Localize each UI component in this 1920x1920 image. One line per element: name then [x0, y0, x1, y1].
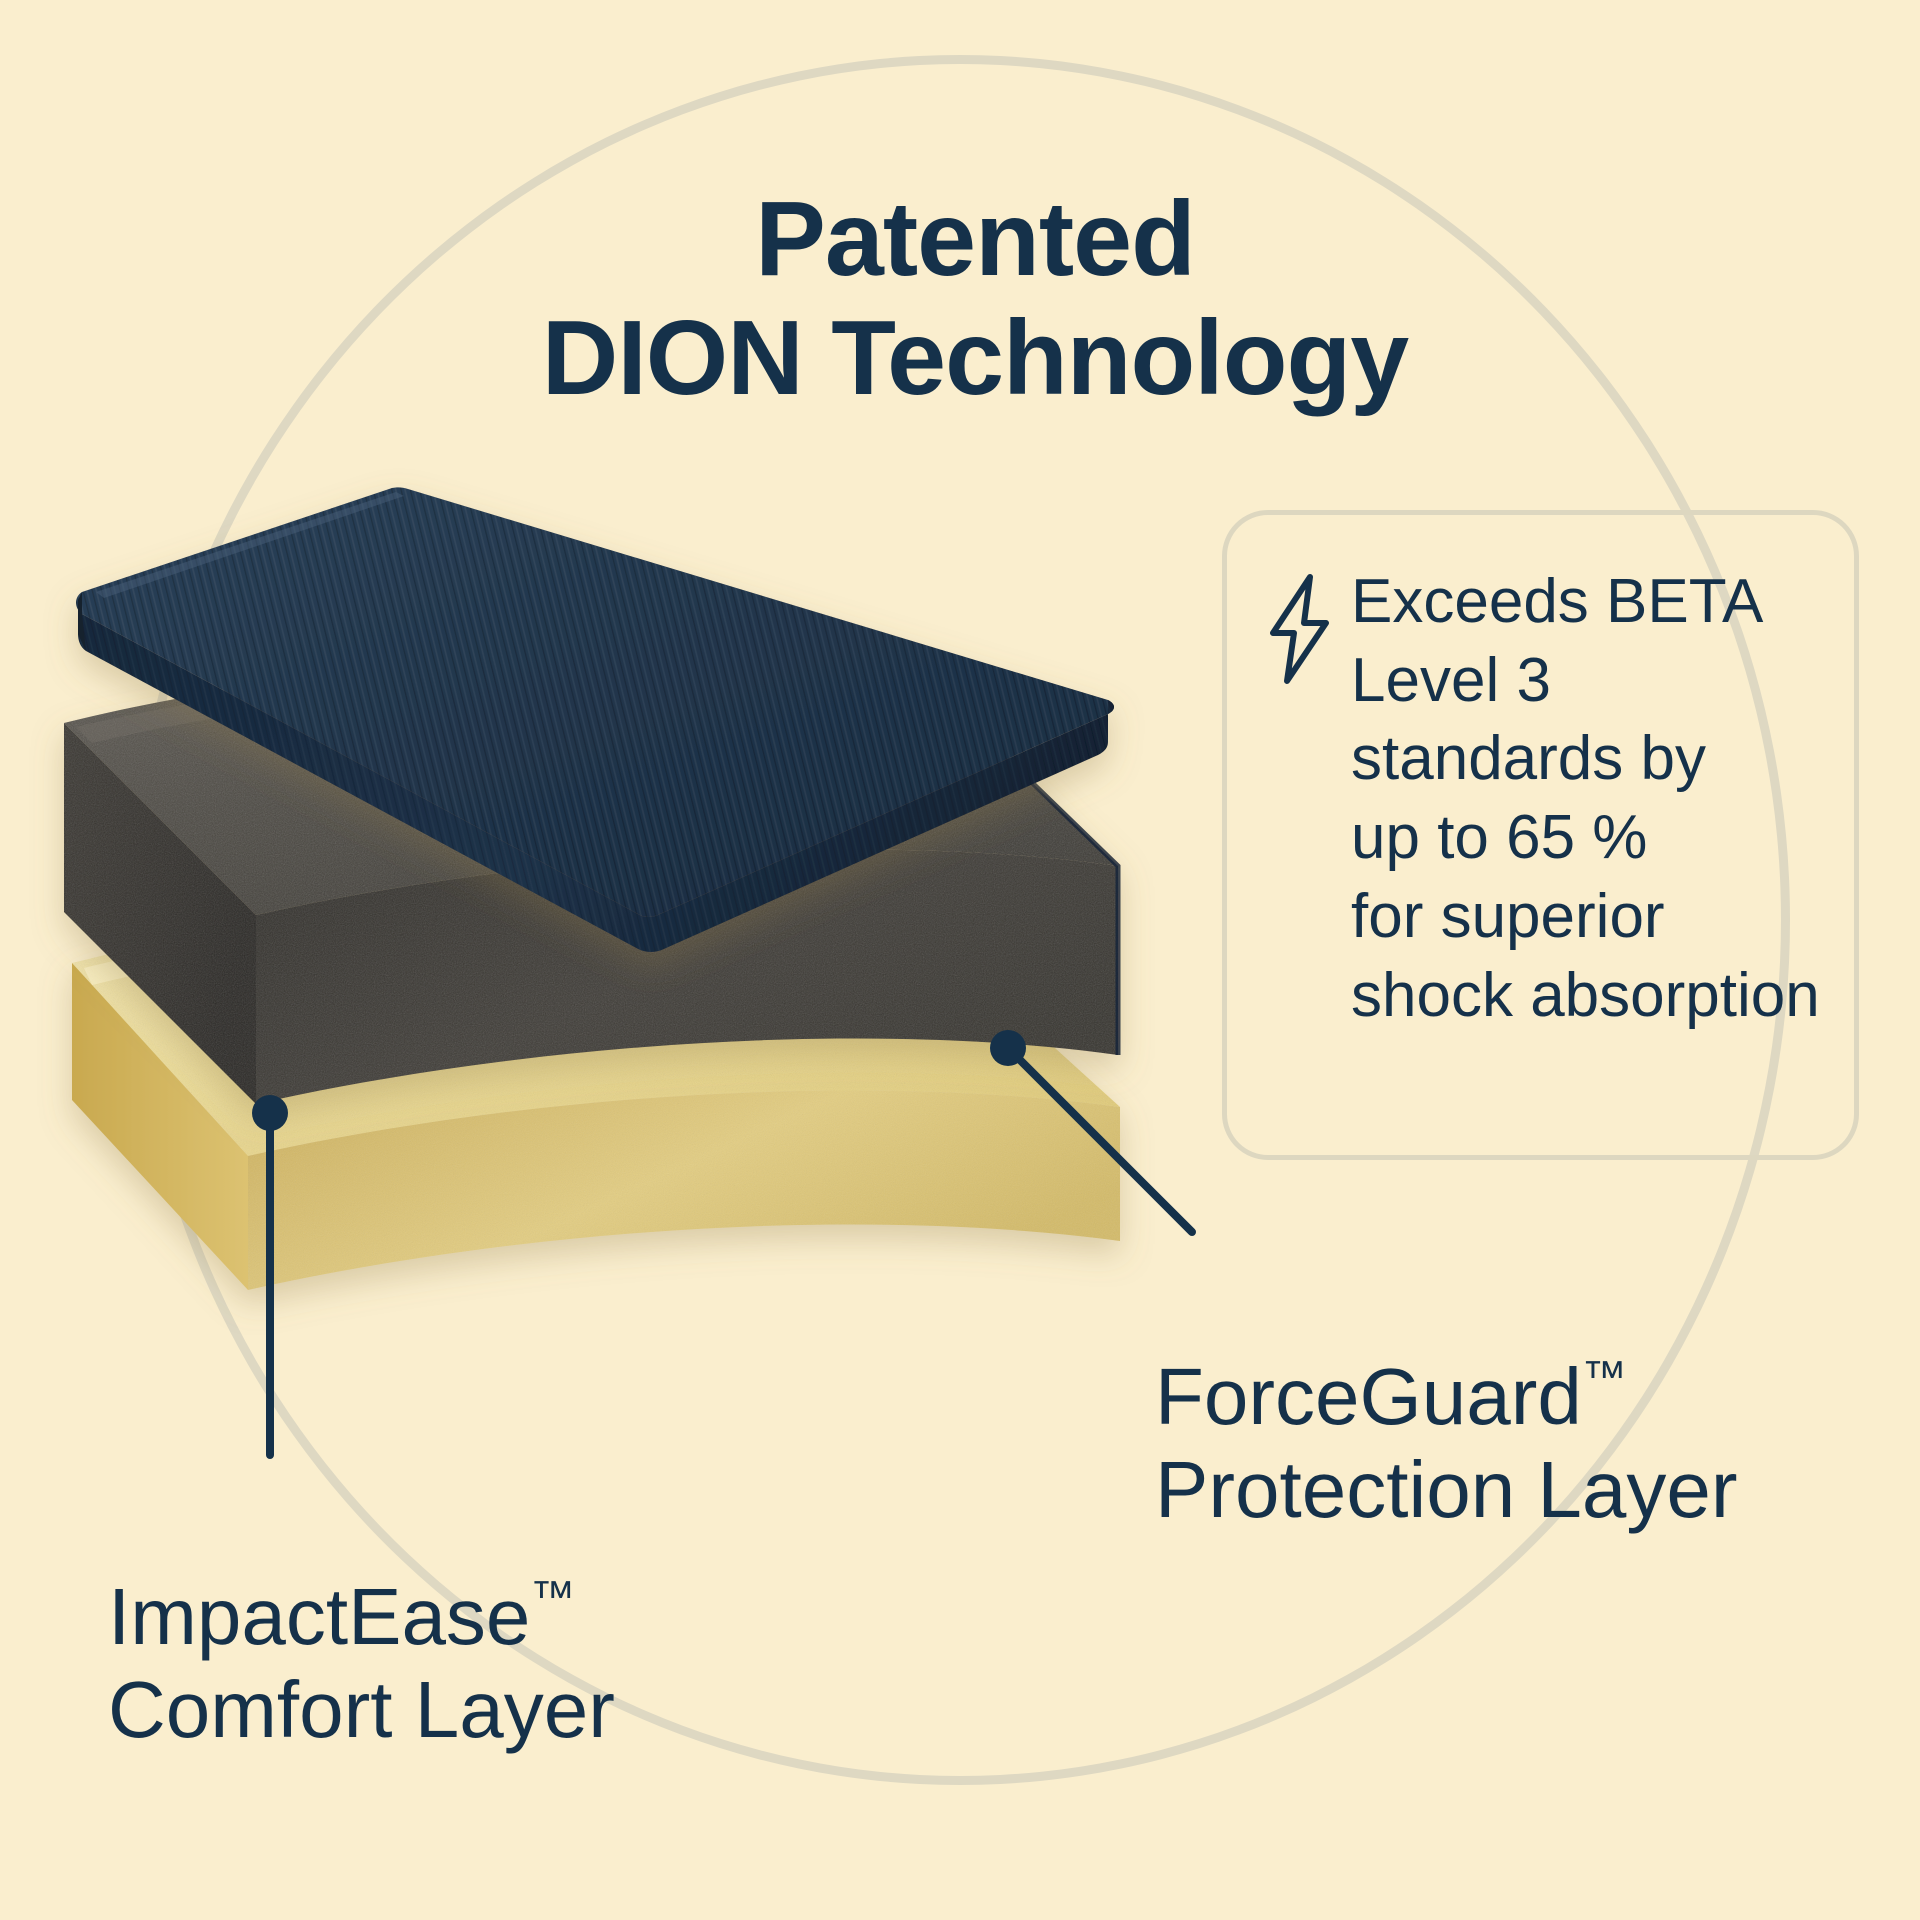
leader-line-comfort-layer	[252, 1095, 288, 1455]
infographic-canvas: Patented DION Technology Exceeds BETA Le…	[0, 0, 1920, 1920]
impactease-comfort-layer-shape	[72, 898, 1120, 1290]
spec-callout-text: Exceeds BETA Level 3 standards by up to …	[1351, 563, 1820, 1035]
trademark-symbol: ™	[530, 1572, 575, 1622]
label-impactease-name: ImpactEase	[108, 1572, 530, 1661]
lightning-bolt-icon	[1263, 563, 1347, 685]
label-impactease-comfort-layer: ImpactEase™ Comfort Layer	[108, 1478, 615, 1756]
label-forceguard-protection-layer: ForceGuard™ Protection Layer	[1155, 1258, 1738, 1536]
page-title: Patented DION Technology	[330, 180, 1620, 417]
leader-line-protection-layer	[990, 1030, 1192, 1232]
label-forceguard-suffix: Protection Layer	[1155, 1445, 1738, 1534]
top-navy-cover-layer-shape	[76, 487, 1114, 952]
label-forceguard-name: ForceGuard	[1155, 1352, 1582, 1441]
label-impactease-suffix: Comfort Layer	[108, 1665, 615, 1754]
trademark-symbol: ™	[1582, 1352, 1627, 1402]
forceguard-protection-layer-shape	[64, 658, 1118, 1104]
spec-callout-box: Exceeds BETA Level 3 standards by up to …	[1222, 510, 1859, 1160]
